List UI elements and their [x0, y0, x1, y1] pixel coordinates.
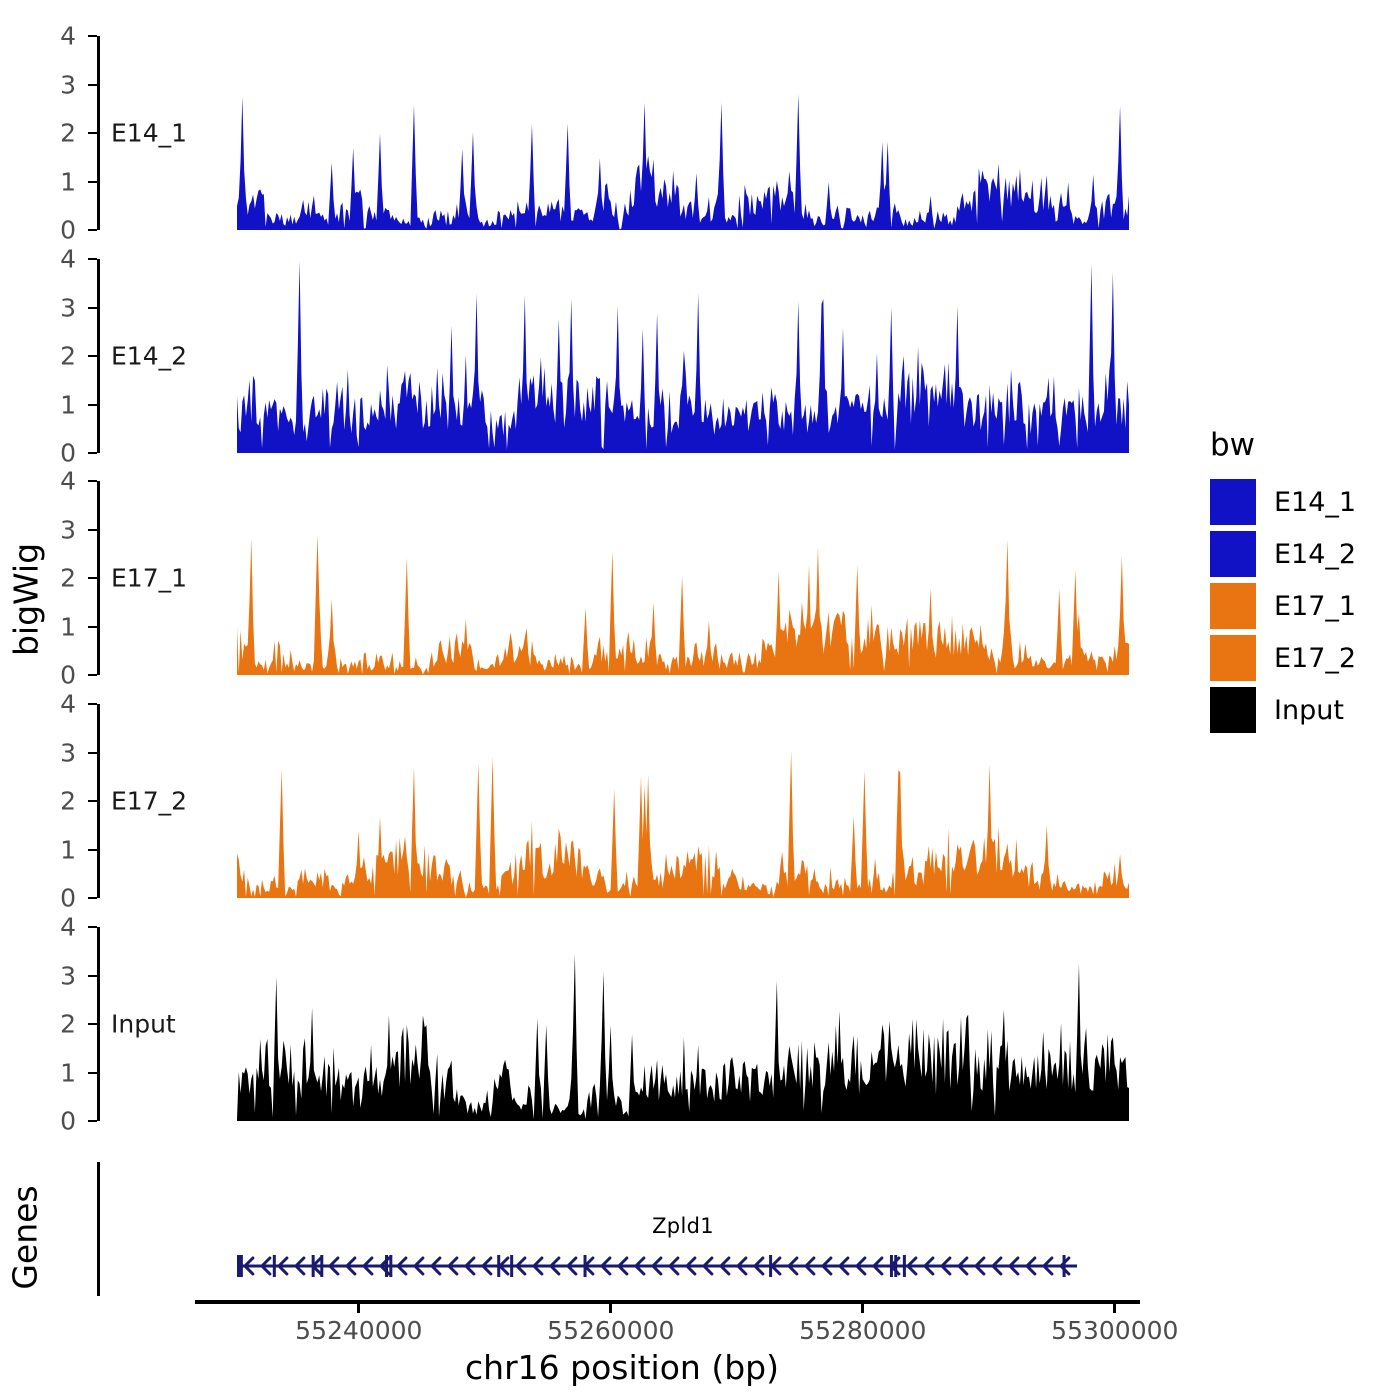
- track-panel-e17_2: 01234E17_2: [97, 704, 1132, 898]
- bigwig-axis-title: bigWig: [7, 510, 46, 690]
- y-tick-label: 4: [60, 469, 76, 494]
- track-waveform: [237, 704, 1129, 898]
- legend-swatch: [1210, 583, 1256, 629]
- legend-item-e14_2[interactable]: E14_2: [1210, 528, 1356, 580]
- y-tick-label: 2: [60, 566, 76, 591]
- y-tick-label: 1: [60, 1060, 76, 1085]
- x-tick: [1113, 1304, 1116, 1313]
- y-axis-line: [97, 481, 100, 675]
- y-tick-label: 1: [60, 392, 76, 417]
- legend-swatch: [1210, 479, 1256, 525]
- y-tick-label: 1: [60, 837, 76, 862]
- gene-track-svg: [237, 1246, 1129, 1286]
- legend-label: E17_2: [1274, 645, 1356, 672]
- legend-item-e14_1[interactable]: E14_1: [1210, 476, 1356, 528]
- x-tick-label: 55260000: [547, 1316, 674, 1345]
- y-tick: 3: [88, 307, 97, 309]
- y-tick-label: 2: [60, 1012, 76, 1037]
- y-tick-label: 4: [60, 915, 76, 940]
- y-tick: 2: [88, 577, 97, 579]
- track-name-label: E17_1: [111, 566, 187, 591]
- y-tick: 1: [88, 404, 97, 406]
- y-tick-label: 2: [60, 789, 76, 814]
- y-tick: 1: [88, 1072, 97, 1074]
- gene-name-label: Zpld1: [237, 1214, 1129, 1238]
- gene-model[interactable]: Zpld1: [237, 1162, 1129, 1296]
- genes-axis-line: [97, 1162, 100, 1296]
- y-tick: 2: [88, 132, 97, 134]
- x-tick-label: 55280000: [799, 1316, 926, 1345]
- y-tick: 2: [88, 355, 97, 357]
- legend-swatch: [1210, 635, 1256, 681]
- x-tick-label: 55240000: [295, 1316, 422, 1345]
- track-waveform: [237, 259, 1129, 453]
- y-tick: 3: [88, 84, 97, 86]
- genes-axis-title: Genes: [6, 1173, 45, 1303]
- y-tick-label: 0: [60, 441, 76, 466]
- y-tick-label: 2: [60, 121, 76, 146]
- y-tick-label: 0: [60, 218, 76, 243]
- track-name-label: E14_1: [111, 121, 187, 146]
- y-tick-label: 3: [60, 72, 76, 97]
- y-axis-line: [97, 927, 100, 1121]
- genome-browser-figure: bigWig Genes 01234E14_101234E14_201234E1…: [0, 0, 1400, 1400]
- y-tick-label: 4: [60, 692, 76, 717]
- legend-items: E14_1E14_2E17_1E17_2Input: [1210, 476, 1356, 736]
- y-tick-label: 2: [60, 344, 76, 369]
- y-tick: 0: [88, 674, 97, 676]
- legend-item-e17_1[interactable]: E17_1: [1210, 580, 1356, 632]
- y-axis-line: [97, 259, 100, 453]
- track-panel-e17_1: 01234E17_1: [97, 481, 1132, 675]
- x-tick: [861, 1304, 864, 1313]
- y-tick-label: 0: [60, 663, 76, 688]
- legend-label: E14_2: [1274, 541, 1356, 568]
- y-tick: 1: [88, 626, 97, 628]
- y-tick: 0: [88, 229, 97, 231]
- genes-panel: Zpld1: [97, 1162, 1132, 1296]
- y-tick: 4: [88, 480, 97, 482]
- y-axis-line: [97, 36, 100, 230]
- y-tick: 2: [88, 1023, 97, 1025]
- track-waveform: [237, 927, 1129, 1121]
- legend-label: Input: [1274, 697, 1344, 724]
- x-tick-label: 55300000: [1051, 1316, 1178, 1345]
- legend-label: E14_1: [1274, 489, 1356, 516]
- track-panel-e14_1: 01234E14_1: [97, 36, 1132, 230]
- y-tick: 4: [88, 258, 97, 260]
- track-panel-input: 01234Input: [97, 927, 1132, 1121]
- y-tick: 4: [88, 35, 97, 37]
- y-tick: 2: [88, 800, 97, 802]
- y-tick-label: 3: [60, 963, 76, 988]
- y-tick-label: 3: [60, 517, 76, 542]
- legend-title: bw: [1210, 430, 1356, 461]
- y-tick-label: 1: [60, 169, 76, 194]
- y-tick-label: 3: [60, 295, 76, 320]
- y-tick-label: 4: [60, 247, 76, 272]
- legend-item-input[interactable]: Input: [1210, 684, 1356, 736]
- y-tick-label: 0: [60, 1109, 76, 1134]
- x-tick: [609, 1304, 612, 1313]
- y-tick-label: 3: [60, 740, 76, 765]
- legend-item-e17_2[interactable]: E17_2: [1210, 632, 1356, 684]
- y-tick: 0: [88, 1120, 97, 1122]
- y-tick: 1: [88, 181, 97, 183]
- y-tick: 1: [88, 849, 97, 851]
- y-tick: 4: [88, 926, 97, 928]
- track-name-label: E17_2: [111, 789, 187, 814]
- y-tick: 3: [88, 529, 97, 531]
- track-waveform: [237, 481, 1129, 675]
- y-tick: 3: [88, 975, 97, 977]
- legend-label: E17_1: [1274, 593, 1356, 620]
- track-name-label: Input: [111, 1012, 176, 1037]
- y-tick: 3: [88, 752, 97, 754]
- legend-swatch: [1210, 531, 1256, 577]
- track-panel-e14_2: 01234E14_2: [97, 259, 1132, 453]
- y-axis-line: [97, 704, 100, 898]
- legend: bw E14_1E14_2E17_1E17_2Input: [1210, 430, 1356, 736]
- x-axis-title: chr16 position (bp): [97, 1348, 1147, 1387]
- legend-swatch: [1210, 687, 1256, 733]
- x-axis-line: 55240000552600005528000055300000: [195, 1300, 1140, 1304]
- y-tick-label: 1: [60, 614, 76, 639]
- y-tick: 0: [88, 452, 97, 454]
- y-tick-label: 0: [60, 886, 76, 911]
- y-tick: 0: [88, 897, 97, 899]
- y-tick-label: 4: [60, 24, 76, 49]
- y-tick: 4: [88, 703, 97, 705]
- x-tick: [357, 1304, 360, 1313]
- track-name-label: E14_2: [111, 344, 187, 369]
- track-waveform: [237, 36, 1129, 230]
